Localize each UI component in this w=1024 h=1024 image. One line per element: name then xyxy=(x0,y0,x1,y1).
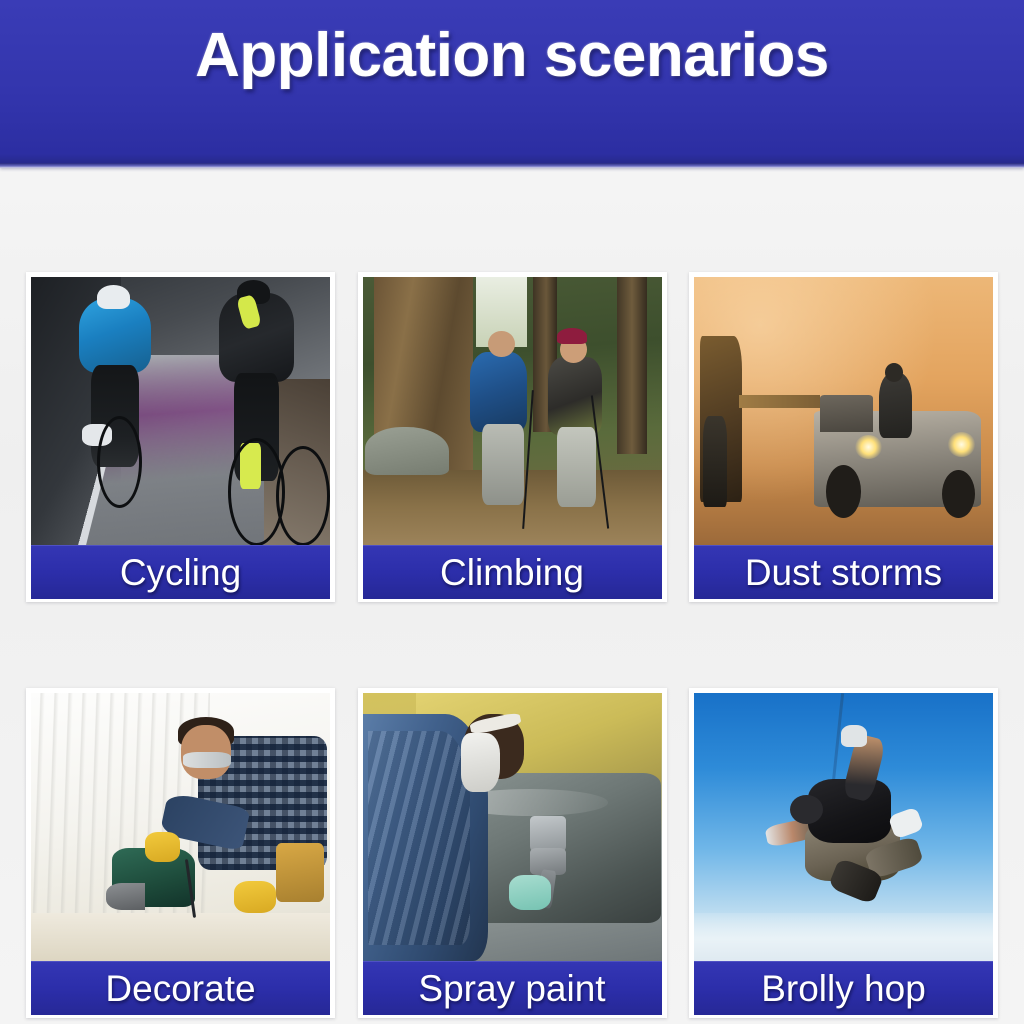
cyclist-white-helmet xyxy=(97,285,130,309)
skydivers-photo xyxy=(694,693,993,961)
scenario-card-cycling[interactable]: Cycling xyxy=(26,272,335,602)
headlight-right xyxy=(948,432,975,456)
tree-trunk-right xyxy=(617,277,647,454)
scenario-card-row-1: Cycling xyxy=(26,272,998,602)
worker-head xyxy=(885,363,903,382)
scenario-card-row-2: Decorate Spray paint xyxy=(26,688,998,1018)
cyclist-blue-jersey xyxy=(79,298,151,373)
hiker-left-legs xyxy=(482,424,524,504)
card-caption-climbing: Climbing xyxy=(363,545,662,599)
yellow-glove-left xyxy=(145,832,181,861)
page-title: Application scenarios xyxy=(0,16,1024,96)
cyclists-on-road-photo xyxy=(31,277,330,545)
card-caption-cycling: Cycling xyxy=(31,545,330,599)
application-scenarios-page: Application scenarios xyxy=(0,0,1024,1024)
teal-glove xyxy=(509,875,551,910)
hiker-left-head xyxy=(488,331,515,358)
skydiver-helmet xyxy=(790,795,823,824)
scenario-card-decorate[interactable]: Decorate xyxy=(26,688,335,1018)
card-caption-spray-paint: Spray paint xyxy=(363,961,662,1015)
bicycle-right-front-wheel xyxy=(276,446,330,545)
tool-belt xyxy=(276,843,324,902)
scenario-card-grid: Cycling xyxy=(26,272,998,1024)
red-bandana xyxy=(557,328,587,344)
hikers-in-forest-photo xyxy=(363,277,662,545)
scenario-card-spray-paint[interactable]: Spray paint xyxy=(358,688,667,1018)
hiker-right-legs xyxy=(557,427,596,507)
crane-boom xyxy=(739,395,820,408)
man-with-circular-saw-photo xyxy=(31,693,330,961)
card-caption-decorate: Decorate xyxy=(31,961,330,1015)
scenario-card-brolly-hop[interactable]: Brolly hop xyxy=(689,688,998,1018)
work-surface xyxy=(31,913,330,961)
header-underline-divider xyxy=(0,163,1024,168)
respirator-mask xyxy=(461,733,500,792)
worker-on-truck xyxy=(879,373,912,437)
hiker-blue-jacket xyxy=(470,352,527,432)
saw-blade-guard xyxy=(106,883,145,910)
boulder xyxy=(365,427,449,475)
header-banner: Application scenarios xyxy=(0,0,1024,167)
scenario-card-climbing[interactable]: Climbing xyxy=(358,272,667,602)
coverall-folds xyxy=(368,731,470,945)
spray-painting-car-photo xyxy=(363,693,662,961)
cloud-horizon xyxy=(694,913,993,961)
standing-figure xyxy=(703,416,727,507)
skydiver-boot xyxy=(888,807,924,840)
truck-cab xyxy=(820,395,874,433)
bicycle-left xyxy=(97,416,142,508)
card-caption-dust-storms: Dust storms xyxy=(694,545,993,599)
safety-goggles xyxy=(183,752,231,768)
truck-wheel-rear xyxy=(942,470,975,518)
yellow-glove-right xyxy=(234,881,276,913)
skydiver-raised-hand xyxy=(841,725,868,746)
dust-storm-vehicle-photo xyxy=(694,277,993,545)
card-caption-brolly-hop: Brolly hop xyxy=(694,961,993,1015)
scenario-card-dust-storms[interactable]: Dust storms xyxy=(689,272,998,602)
